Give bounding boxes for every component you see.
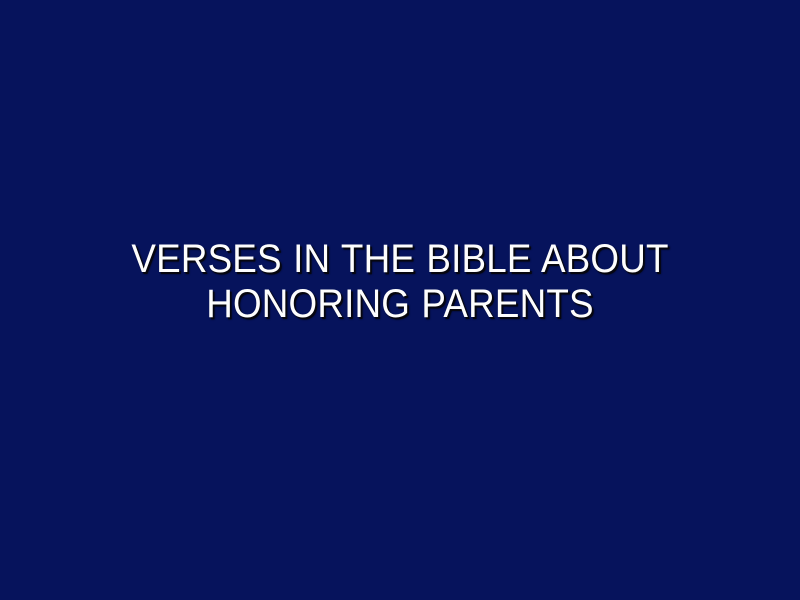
title-block: VERSES IN THE BIBLE ABOUT HONORING PAREN… [40, 237, 760, 327]
slide-canvas: VERSES IN THE BIBLE ABOUT HONORING PAREN… [0, 0, 800, 600]
page-title: VERSES IN THE BIBLE ABOUT HONORING PAREN… [69, 237, 731, 327]
